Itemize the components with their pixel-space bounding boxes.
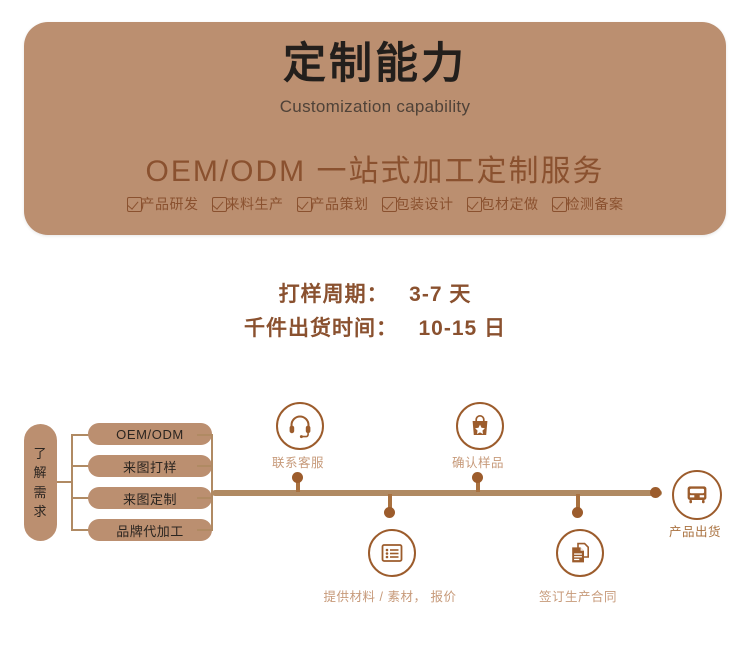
page-title: 定制能力 xyxy=(24,42,726,87)
option-pill-oem-brand[interactable]: 品牌代加工 xyxy=(88,519,212,541)
bracket-left-spine xyxy=(71,434,73,531)
checkbox-checked-icon xyxy=(297,197,312,212)
requirement-group-pill: 了 解 需 求 xyxy=(24,424,57,541)
bracket-right-spine xyxy=(211,434,213,531)
timeline-node-confirm-sample[interactable] xyxy=(456,402,504,450)
timeline-dot xyxy=(572,507,583,518)
page-subtitle: Customization capability xyxy=(24,97,726,117)
checkbox-checked-icon xyxy=(552,197,567,212)
option-pill-photo-custom[interactable]: 来图定制 xyxy=(88,487,212,509)
shopping-bag-star-icon xyxy=(468,414,492,438)
requirement-group-char: 解 xyxy=(33,463,47,483)
timeline-dot xyxy=(384,507,395,518)
requirement-group-char: 需 xyxy=(33,483,47,503)
banner-headline: OEM/ODM 一站式加工定制服务 xyxy=(24,146,726,190)
capability-tag: 检测备案 xyxy=(552,194,624,214)
customization-capability-page: 定制能力 Customization capability OEM/ODM 一站… xyxy=(0,0,750,653)
capability-tag: 包材定做 xyxy=(467,194,539,214)
timeline-node-contact-service[interactable] xyxy=(276,402,324,450)
bracket-right-arm xyxy=(197,497,213,499)
capability-tag-list: 产品研发 来料生产 产品策划 包装设计 包材定做 检测备案 xyxy=(24,194,726,214)
headset-icon xyxy=(287,413,313,439)
timeline-node-shipment[interactable] xyxy=(672,470,722,520)
banner-card: 定制能力 Customization capability OEM/ODM 一站… xyxy=(24,22,726,235)
timeline-label-shipment: 产品出货 xyxy=(645,521,745,540)
capability-tag: 来料生产 xyxy=(212,194,284,214)
timeline-label-provide-materials: 提供材料 / 素材， 报价 xyxy=(310,586,470,605)
option-pill-label: OEM/ODM xyxy=(116,427,184,442)
requirement-group-char: 了 xyxy=(33,444,47,464)
bulk-lead-time: 千件出货时间： 10-15 日 xyxy=(0,312,750,342)
bracket-right-arm xyxy=(197,434,213,436)
timeline-node-sign-contract[interactable] xyxy=(556,529,604,577)
timeline-node-provide-materials[interactable] xyxy=(368,529,416,577)
capability-tag-label: 检测备案 xyxy=(566,194,624,214)
bracket-right-arm xyxy=(197,529,213,531)
capability-tag-label: 产品策划 xyxy=(311,194,369,214)
capability-tag: 产品研发 xyxy=(127,194,199,214)
timeline-label-sign-contract: 签订生产合同 xyxy=(518,586,638,605)
option-pill-label: 来图定制 xyxy=(123,489,177,508)
sample-lead-time: 打样周期： 3-7 天 xyxy=(0,278,750,308)
bracket-right-arm xyxy=(197,465,213,467)
capability-tag-label: 来料生产 xyxy=(226,194,284,214)
option-pill-oem-odm[interactable]: OEM/ODM xyxy=(88,423,212,445)
bulk-lead-time-value: 10-15 日 xyxy=(418,317,506,340)
delivery-truck-icon xyxy=(684,482,710,508)
timeline-label-contact-service: 联系客服 xyxy=(238,452,358,471)
timeline-dot xyxy=(472,472,483,483)
capability-tag-label: 产品研发 xyxy=(141,194,199,214)
checkbox-checked-icon xyxy=(382,197,397,212)
bracket-left-arm xyxy=(71,497,89,499)
capability-tag-label: 包材定做 xyxy=(481,194,539,214)
checkbox-checked-icon xyxy=(212,197,227,212)
requirement-group-char: 求 xyxy=(33,502,47,522)
option-pill-label: 品牌代加工 xyxy=(116,521,184,540)
checkbox-checked-icon xyxy=(127,197,142,212)
sample-lead-time-value: 3-7 天 xyxy=(409,283,471,306)
sample-lead-time-label: 打样周期： xyxy=(279,283,389,306)
timeline-label-confirm-sample: 确认样品 xyxy=(418,452,538,471)
bracket-left-arm xyxy=(71,465,89,467)
capability-tag: 产品策划 xyxy=(297,194,369,214)
bracket-left-stem xyxy=(57,481,72,483)
timeline-baseline xyxy=(212,490,662,496)
bracket-left-arm xyxy=(71,434,89,436)
timeline-dot xyxy=(292,472,303,483)
option-pill-photo-sample[interactable]: 来图打样 xyxy=(88,455,212,477)
bracket-left-arm xyxy=(71,529,89,531)
timeline-dot xyxy=(650,487,661,498)
checkbox-checked-icon xyxy=(467,197,482,212)
capability-tag-label: 包装设计 xyxy=(396,194,454,214)
option-pill-label: 来图打样 xyxy=(123,457,177,476)
contract-documents-icon xyxy=(568,541,592,565)
bulk-lead-time-label: 千件出货时间： xyxy=(244,317,398,340)
capability-tag: 包装设计 xyxy=(382,194,454,214)
list-document-icon xyxy=(380,541,404,565)
